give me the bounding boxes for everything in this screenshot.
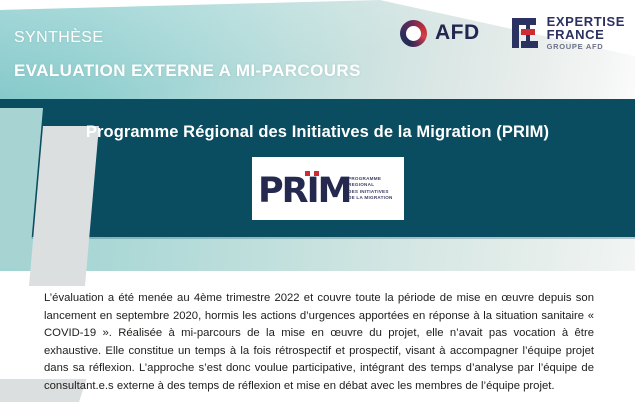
afd-wordmark: AFD (435, 21, 480, 45)
prim-mark-icon: PRIM (258, 167, 344, 211)
prim-wordmark: PRIM (258, 173, 350, 209)
body-paragraph: L’évaluation a été menée au 4ème trimest… (44, 290, 594, 395)
banner-subtitle: SYNTHÈSE (14, 28, 361, 48)
afd-ring-icon (400, 20, 427, 47)
expertise-france-logo: EXPERTISE FRANCE GROUPE AFD (512, 15, 625, 51)
expertise-france-mark-icon (512, 18, 539, 48)
afd-logo: AFD (400, 20, 480, 47)
prim-tagline-line-4: DE LA MIGRATION (348, 195, 393, 201)
prim-accent-dot-right (314, 171, 319, 176)
title-band-bottom-gradient (0, 237, 635, 271)
banner-title: EVALUATION EXTERNE A MI-PARCOURS (14, 60, 361, 82)
prim-accent-dot-left (305, 171, 310, 176)
logo-row: AFD EXPERTISE FRANCE GROUPE AFD (400, 8, 625, 58)
expertise-france-line2: FRANCE (547, 28, 625, 41)
expertise-france-line1: EXPERTISE (547, 15, 625, 28)
document-page: SYNTHÈSE EVALUATION EXTERNE A MI-PARCOUR… (0, 0, 635, 402)
prim-tagline: PROGRAMME REGIONAL DES INITIATIVES DE LA… (348, 176, 393, 200)
prim-logo-card: PRIM PROGRAMME REGIONAL DES INITIATIVES … (252, 157, 404, 220)
programme-title: Programme Régional des Initiatives de la… (0, 123, 635, 142)
expertise-france-line3: GROUPE AFD (547, 43, 625, 51)
prim-tagline-line-3: DES INITIATIVES (348, 189, 393, 195)
banner-text-block: SYNTHÈSE EVALUATION EXTERNE A MI-PARCOUR… (14, 28, 361, 82)
expertise-france-wordmark: EXPERTISE FRANCE GROUPE AFD (547, 15, 625, 51)
